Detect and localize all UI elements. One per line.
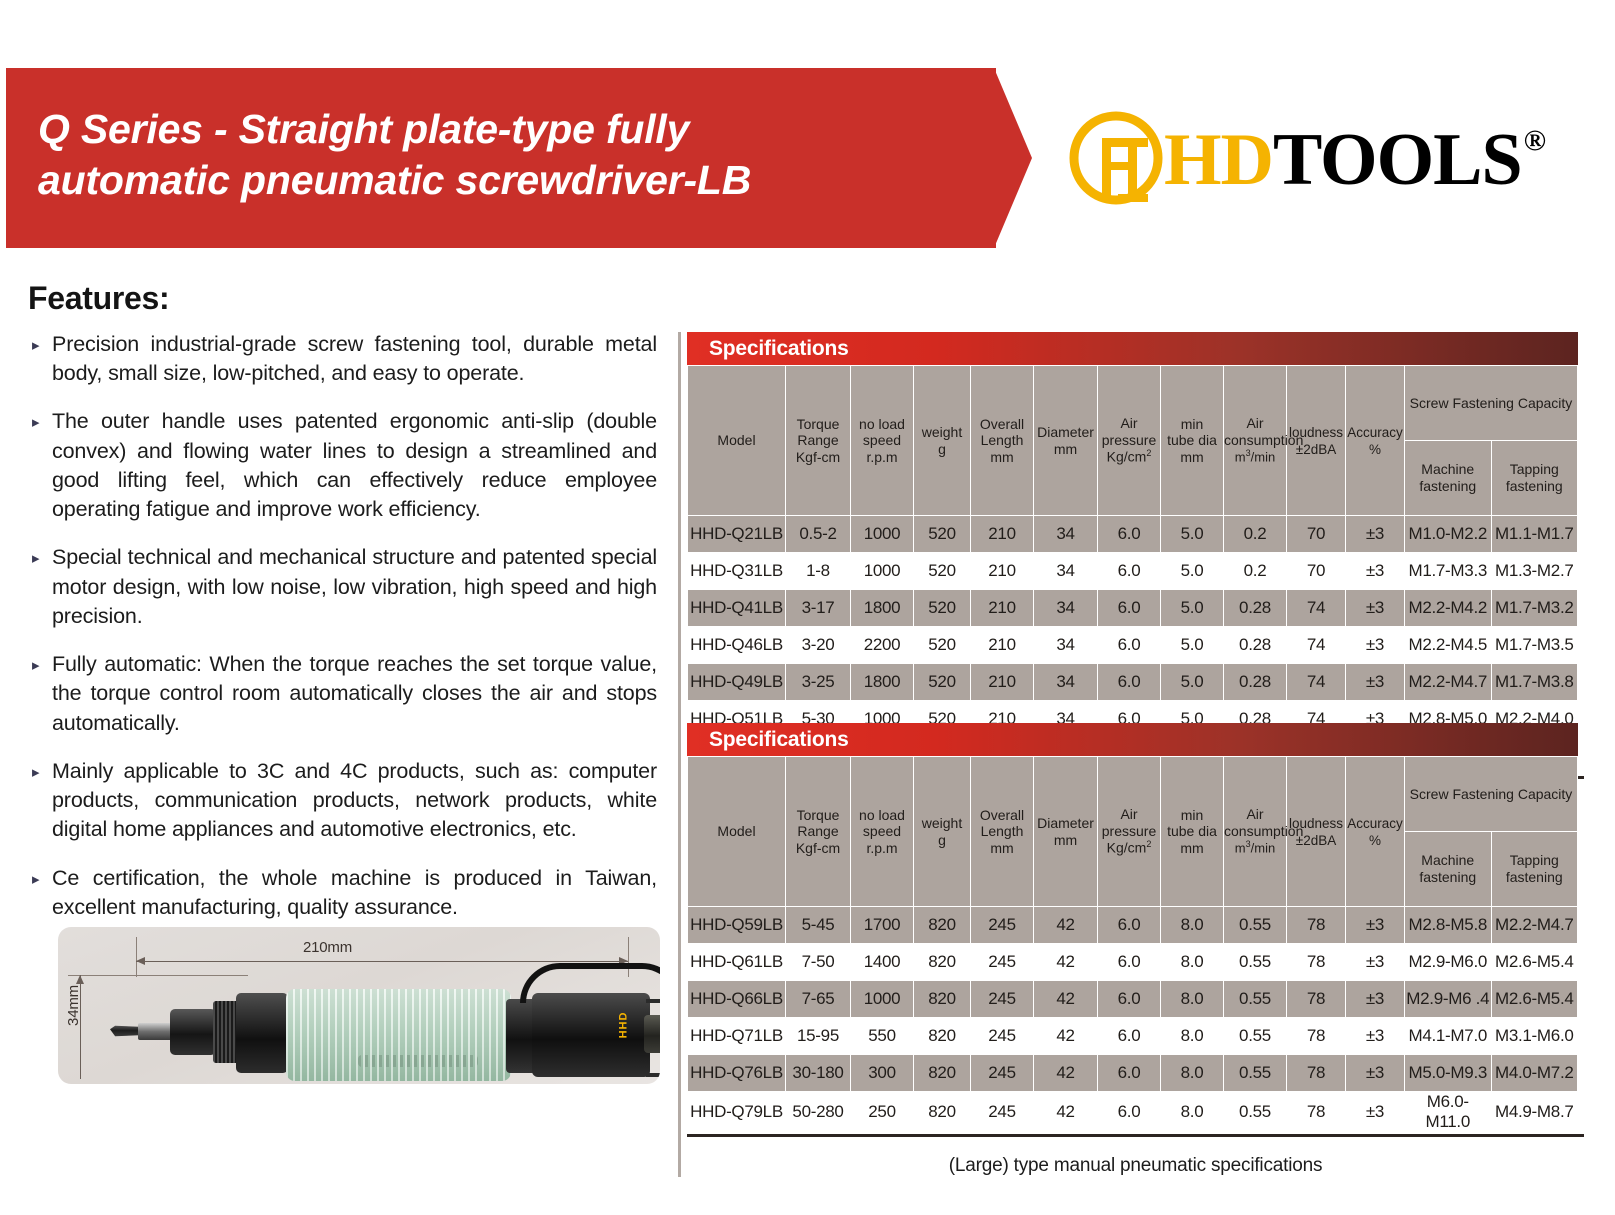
cell-model: HHD-Q31LB [688,553,786,590]
cell-accuracy: ±3 [1346,627,1405,664]
cell-machine-fastening: M2.8-M5.8 [1405,907,1492,944]
cell-machine-fastening: M6.0-M11.0 [1405,1092,1492,1133]
cell-loudness: 70 [1287,516,1346,553]
screwdriver-grip [286,989,511,1081]
cell-air-pressure: 6.0 [1098,1018,1161,1055]
cell-tapping-fastening: M1.3-M2.7 [1491,553,1578,590]
cell-weight: 820 [914,1018,971,1055]
feature-text: Ce certification, the whole machine is p… [52,864,657,922]
cell-air-pressure: 6.0 [1098,944,1161,981]
table-row: HHD-Q21LB 0.5-2 1000 520 210 34 6.0 5.0 … [688,516,1578,553]
cell-diameter: 42 [1034,1018,1098,1055]
header-banner-arrow [994,68,1032,248]
screwdriver-grip-band [358,1055,478,1067]
cell-loudness: 78 [1287,1092,1346,1133]
cell-speed: 1700 [851,907,914,944]
bullet-icon: ▸ [32,330,52,353]
cell-min-tube: 8.0 [1161,981,1224,1018]
ft-monogram-circle-icon [1062,102,1170,210]
cell-min-tube: 8.0 [1161,1092,1224,1133]
cell-torque: 1-8 [786,553,851,590]
cell-air-consumption: 0.28 [1224,590,1287,627]
screwdriver-collar [236,993,288,1073]
cell-min-tube: 8.0 [1161,907,1224,944]
brand-logo: HDTOOLS® [1062,96,1543,216]
cell-min-tube: 8.0 [1161,944,1224,981]
th-air-pressure: Air pressure Kg/cm2 [1098,757,1161,907]
cell-loudness: 78 [1287,981,1346,1018]
feature-text: The outer handle uses patented ergonomic… [52,407,657,524]
cell-diameter: 42 [1034,1055,1098,1092]
cell-air-consumption: 0.28 [1224,664,1287,701]
table-row: HHD-Q61LB 7-50 1400 820 245 42 6.0 8.0 0… [688,944,1578,981]
cell-length: 245 [971,1092,1034,1133]
table-header-row: Model Torque Range Kgf-cm no load speed … [688,366,1578,441]
cell-torque: 3-17 [786,590,851,627]
cell-accuracy: ±3 [1346,1018,1405,1055]
th-min-tube-dia: min tube dia mm [1161,366,1224,516]
table-head: Model Torque Range Kgf-cm no load speed … [688,366,1578,516]
cell-loudness: 70 [1287,553,1346,590]
cell-speed: 300 [851,1055,914,1092]
cell-torque: 3-25 [786,664,851,701]
cell-tapping-fastening: M2.2-M4.7 [1491,907,1578,944]
cell-weight: 820 [914,907,971,944]
cell-loudness: 78 [1287,1055,1346,1092]
cell-accuracy: ±3 [1346,516,1405,553]
cell-length: 210 [971,627,1034,664]
cell-min-tube: 5.0 [1161,664,1224,701]
cell-length: 210 [971,516,1034,553]
cell-speed: 2200 [851,627,914,664]
cell-machine-fastening: M2.2-M4.2 [1405,590,1492,627]
cell-weight: 520 [914,664,971,701]
cell-accuracy: ±3 [1346,553,1405,590]
cell-min-tube: 5.0 [1161,516,1224,553]
cell-weight: 820 [914,1092,971,1133]
cell-tapping-fastening: M1.1-M1.7 [1491,516,1578,553]
cell-air-consumption: 0.2 [1224,516,1287,553]
registered-trademark-icon: ® [1524,124,1545,157]
cell-torque: 3-20 [786,627,851,664]
table-row: HHD-Q76LB 30-180 300 820 245 42 6.0 8.0 … [688,1055,1578,1092]
cell-model: HHD-Q61LB [688,944,786,981]
cell-machine-fastening: M2.9-M6 .4 [1405,981,1492,1018]
screwdriver-body [532,993,650,1077]
th-weight: weight g [914,366,971,516]
cell-torque: 50-280 [786,1092,851,1133]
th-weight: weight g [914,757,971,907]
screwdriver-lever [520,963,660,1003]
cell-loudness: 78 [1287,907,1346,944]
cell-machine-fastening: M5.0-M9.3 [1405,1055,1492,1092]
specifications-table-small: Model Torque Range Kgf-cm no load speed … [687,365,1578,775]
cell-torque: 7-65 [786,981,851,1018]
th-diameter: Diameter mm [1034,757,1098,907]
th-tapping-fastening: Tapping fastening [1491,441,1578,516]
cell-accuracy: ±3 [1346,981,1405,1018]
th-screw-fastening-capacity: Screw Fastening Capacity [1405,366,1578,441]
cell-model: HHD-Q66LB [688,981,786,1018]
cell-machine-fastening: M2.2-M4.5 [1405,627,1492,664]
cell-min-tube: 8.0 [1161,1018,1224,1055]
table-row: HHD-Q71LB 15-95 550 820 245 42 6.0 8.0 0… [688,1018,1578,1055]
cell-accuracy: ±3 [1346,944,1405,981]
cell-loudness: 78 [1287,944,1346,981]
cell-length: 245 [971,1055,1034,1092]
product-photo: 210mm 34mm HHD [58,927,660,1084]
feature-item: ▸ Ce certification, the whole machine is… [32,864,657,922]
cell-min-tube: 8.0 [1161,1055,1224,1092]
header-banner: Q Series - Straight plate-type fully aut… [6,68,1006,248]
cell-air-consumption: 0.55 [1224,1092,1287,1133]
cell-diameter: 42 [1034,1092,1098,1133]
cell-length: 210 [971,664,1034,701]
feature-text: Special technical and mechanical structu… [52,543,657,631]
cell-diameter: 34 [1034,516,1098,553]
bullet-icon: ▸ [32,757,52,780]
cell-weight: 520 [914,590,971,627]
table-row: HHD-Q49LB 3-25 1800 520 210 34 6.0 5.0 0… [688,664,1578,701]
spec-frame: Specifications Model Torque Range Kgf-cm… [678,723,1578,1177]
page-title: Q Series - Straight plate-type fully aut… [38,104,968,206]
cell-air-consumption: 0.55 [1224,981,1287,1018]
table-body: HHD-Q59LB 5-45 1700 820 245 42 6.0 8.0 0… [688,907,1578,1133]
cell-tapping-fastening: M4.0-M7.2 [1491,1055,1578,1092]
cell-accuracy: ±3 [1346,1092,1405,1133]
cell-length: 245 [971,907,1034,944]
table-header-row: Model Torque Range Kgf-cm no load speed … [688,757,1578,832]
cell-speed: 550 [851,1018,914,1055]
cell-air-consumption: 0.2 [1224,553,1287,590]
cell-machine-fastening: M4.1-M7.0 [1405,1018,1492,1055]
spec-banner: Specifications [687,723,1578,756]
cell-model: HHD-Q49LB [688,664,786,701]
th-no-load-speed: no load speed r.p.m [851,757,914,907]
cell-air-pressure: 6.0 [1098,907,1161,944]
screwdriver-brand-badge: HHD [617,1012,629,1039]
cell-diameter: 34 [1034,627,1098,664]
spec-banner: Specifications [687,332,1578,365]
cell-air-pressure: 6.0 [1098,664,1161,701]
cell-length: 245 [971,944,1034,981]
cell-speed: 250 [851,1092,914,1133]
th-model: Model [688,757,786,907]
cell-tapping-fastening: M1.7-M3.8 [1491,664,1578,701]
features-list: ▸ Precision industrial-grade screw faste… [32,330,657,941]
th-diameter: Diameter mm [1034,366,1098,516]
th-torque-range: Torque Range Kgf-cm [786,757,851,907]
cell-weight: 820 [914,944,971,981]
cell-torque: 5-45 [786,907,851,944]
table-row: HHD-Q31LB 1-8 1000 520 210 34 6.0 5.0 0.… [688,553,1578,590]
cell-model: HHD-Q46LB [688,627,786,664]
cell-loudness: 78 [1287,1018,1346,1055]
cell-length: 245 [971,981,1034,1018]
th-min-tube-dia: min tube dia mm [1161,757,1224,907]
th-torque-range: Torque Range Kgf-cm [786,366,851,516]
cell-air-pressure: 6.0 [1098,1055,1161,1092]
cell-air-pressure: 6.0 [1098,981,1161,1018]
th-overall-length: Overall Length mm [971,366,1034,516]
feature-item: ▸ Precision industrial-grade screw faste… [32,330,657,388]
cell-air-consumption: 0.55 [1224,1055,1287,1092]
cell-air-consumption: 0.55 [1224,907,1287,944]
cell-machine-fastening: M1.7-M3.3 [1405,553,1492,590]
feature-item: ▸ Special technical and mechanical struc… [32,543,657,631]
th-tapping-fastening: Tapping fastening [1491,832,1578,907]
th-air-consumption: Air consumption m3/min [1224,366,1287,516]
cell-torque: 7-50 [786,944,851,981]
cell-weight: 820 [914,1055,971,1092]
cell-diameter: 34 [1034,664,1098,701]
feature-item: ▸ Fully automatic: When the torque reach… [32,650,657,738]
cell-diameter: 42 [1034,907,1098,944]
cell-machine-fastening: M2.2-M4.7 [1405,664,1492,701]
cell-model: HHD-Q76LB [688,1055,786,1092]
table-head: Model Torque Range Kgf-cm no load speed … [688,757,1578,907]
cell-model: HHD-Q59LB [688,907,786,944]
bullet-icon: ▸ [32,407,52,430]
cell-min-tube: 5.0 [1161,590,1224,627]
th-no-load-speed: no load speed r.p.m [851,366,914,516]
cell-diameter: 42 [1034,981,1098,1018]
cell-torque: 30-180 [786,1055,851,1092]
table-row: HHD-Q59LB 5-45 1700 820 245 42 6.0 8.0 0… [688,907,1578,944]
th-accuracy: Accuracy % [1346,757,1405,907]
table-bottom-rule [687,1134,1584,1137]
cell-tapping-fastening: M1.7-M3.5 [1491,627,1578,664]
cell-air-pressure: 6.0 [1098,516,1161,553]
specifications-block-large: Specifications Model Torque Range Kgf-cm… [678,723,1578,1177]
cell-air-pressure: 6.0 [1098,553,1161,590]
cell-speed: 1000 [851,553,914,590]
cell-loudness: 74 [1287,664,1346,701]
table-row: HHD-Q66LB 7-65 1000 820 245 42 6.0 8.0 0… [688,981,1578,1018]
spec-banner-label: Specifications [687,728,849,752]
dimension-width-label: 210mm [303,939,352,956]
feature-text: Mainly applicable to 3C and 4C products,… [52,757,657,845]
bullet-icon: ▸ [32,543,52,566]
screwdriver-shank [138,1023,172,1040]
table-caption: (Large) type manual pneumatic specificat… [687,1155,1584,1177]
th-model: Model [688,366,786,516]
th-loudness: loudness ±2dBA [1287,366,1346,516]
logo-wordmark: HDTOOLS® [1164,123,1543,197]
table-row: HHD-Q79LB 50-280 250 820 245 42 6.0 8.0 … [688,1092,1578,1133]
cell-torque: 0.5-2 [786,516,851,553]
cell-speed: 1000 [851,516,914,553]
cell-diameter: 42 [1034,944,1098,981]
th-air-consumption: Air consumption m3/min [1224,757,1287,907]
spec-banner-label: Specifications [687,337,849,361]
cell-tapping-fastening: M3.1-M6.0 [1491,1018,1578,1055]
cell-speed: 1800 [851,590,914,627]
cell-weight: 520 [914,553,971,590]
cell-tapping-fastening: M2.6-M5.4 [1491,981,1578,1018]
cell-machine-fastening: M1.0-M2.2 [1405,516,1492,553]
cell-length: 245 [971,1018,1034,1055]
th-overall-length: Overall Length mm [971,757,1034,907]
cell-speed: 1400 [851,944,914,981]
logo-tools-text: TOOLS [1273,119,1522,201]
cell-weight: 520 [914,627,971,664]
th-loudness: loudness ±2dBA [1287,757,1346,907]
dimension-width-arrow [136,961,628,962]
th-machine-fastening: Machine fastening [1405,832,1492,907]
cell-loudness: 74 [1287,627,1346,664]
th-machine-fastening: Machine fastening [1405,441,1492,516]
screwdriver-chuck [170,1009,216,1055]
cell-tapping-fastening: M2.6-M5.4 [1491,944,1578,981]
dimension-height-label: 34mm [65,985,82,1026]
cell-air-consumption: 0.28 [1224,627,1287,664]
cell-loudness: 74 [1287,590,1346,627]
cell-air-consumption: 0.55 [1224,1018,1287,1055]
cell-air-pressure: 6.0 [1098,1092,1161,1133]
feature-item: ▸ Mainly applicable to 3C and 4C product… [32,757,657,845]
cell-accuracy: ±3 [1346,1055,1405,1092]
th-accuracy: Accuracy % [1346,366,1405,516]
cell-model: HHD-Q41LB [688,590,786,627]
cell-model: HHD-Q21LB [688,516,786,553]
cell-diameter: 34 [1034,590,1098,627]
cell-model: HHD-Q79LB [688,1092,786,1133]
th-screw-fastening-capacity: Screw Fastening Capacity [1405,757,1578,832]
feature-text: Precision industrial-grade screw fasteni… [52,330,657,388]
cell-weight: 520 [914,516,971,553]
cell-diameter: 34 [1034,553,1098,590]
cell-speed: 1800 [851,664,914,701]
dimension-tick-top [68,975,248,976]
bullet-icon: ▸ [32,864,52,887]
th-air-pressure: Air pressure Kg/cm2 [1098,366,1161,516]
cell-tapping-fastening: M4.9-M8.7 [1491,1092,1578,1133]
cell-min-tube: 5.0 [1161,553,1224,590]
cell-length: 210 [971,553,1034,590]
cell-air-consumption: 0.55 [1224,944,1287,981]
cell-accuracy: ±3 [1346,907,1405,944]
cell-min-tube: 5.0 [1161,627,1224,664]
cell-air-pressure: 6.0 [1098,590,1161,627]
cell-weight: 820 [914,981,971,1018]
cell-length: 210 [971,590,1034,627]
screwdriver-hose [646,999,660,1077]
specifications-table-large: Model Torque Range Kgf-cm no load speed … [687,756,1578,1133]
table-row: HHD-Q46LB 3-20 2200 520 210 34 6.0 5.0 0… [688,627,1578,664]
table-row: HHD-Q41LB 3-17 1800 520 210 34 6.0 5.0 0… [688,590,1578,627]
cell-air-pressure: 6.0 [1098,627,1161,664]
feature-item: ▸ The outer handle uses patented ergonom… [32,407,657,524]
cell-accuracy: ±3 [1346,664,1405,701]
cell-speed: 1000 [851,981,914,1018]
features-heading: Features: [28,280,169,317]
cell-machine-fastening: M2.9-M6.0 [1405,944,1492,981]
cell-torque: 15-95 [786,1018,851,1055]
cell-tapping-fastening: M1.7-M3.2 [1491,590,1578,627]
feature-text: Fully automatic: When the torque reaches… [52,650,657,738]
logo-hd-text: HD [1164,119,1273,201]
cell-accuracy: ±3 [1346,590,1405,627]
cell-model: HHD-Q71LB [688,1018,786,1055]
bullet-icon: ▸ [32,650,52,673]
